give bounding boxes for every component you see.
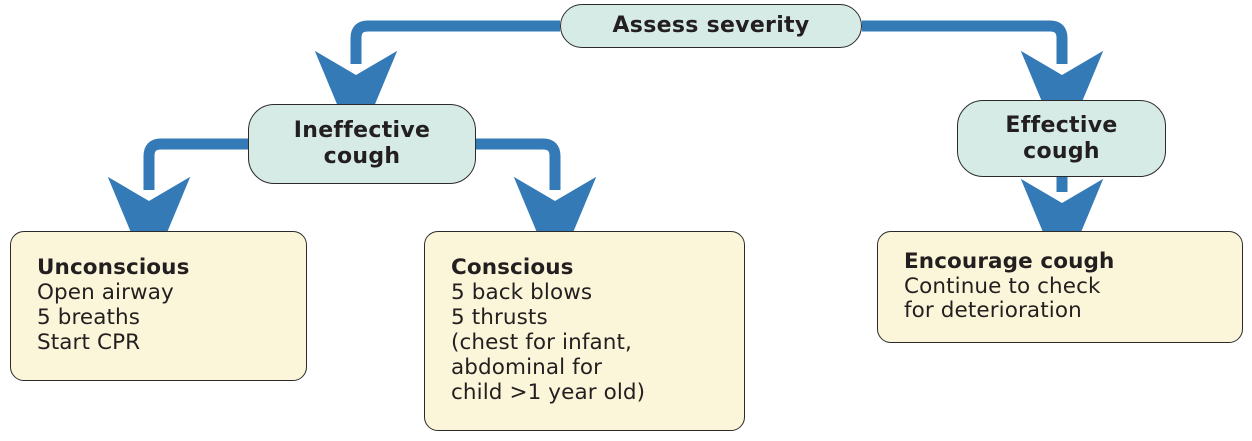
edge-assess-to-effective: [862, 26, 1062, 64]
edge-ineffective-to-conscious: [476, 144, 555, 190]
node-ineffective-cough-line-2: cough: [294, 144, 431, 170]
node-assess-severity[interactable]: Assess severity: [560, 4, 862, 48]
flowchart-canvas: Assess severity Ineffective cough Effect…: [0, 0, 1252, 441]
node-ineffective-cough-line-1: Ineffective: [294, 118, 431, 144]
node-unconscious-line-1: Unconscious: [37, 256, 189, 281]
node-effective-cough-line-2: cough: [1005, 139, 1117, 165]
node-unconscious-line-4: Start CPR: [37, 331, 189, 356]
node-assess-severity-text: Assess severity: [598, 13, 823, 39]
node-encourage-cough-text: Encourage cough Continue to check for de…: [878, 250, 1114, 325]
node-unconscious-line-3: 5 breaths: [37, 306, 189, 331]
node-conscious-line-4: (chest for infant,: [451, 331, 645, 356]
node-unconscious[interactable]: Unconscious Open airway 5 breaths Start …: [10, 231, 307, 381]
node-conscious-line-1: Conscious: [451, 256, 645, 281]
node-conscious[interactable]: Conscious 5 back blows 5 thrusts (chest …: [424, 231, 745, 431]
node-conscious-text: Conscious 5 back blows 5 thrusts (chest …: [425, 256, 645, 406]
node-effective-cough[interactable]: Effective cough: [957, 100, 1166, 177]
node-conscious-line-3: 5 thrusts: [451, 306, 645, 331]
node-unconscious-text: Unconscious Open airway 5 breaths Start …: [11, 256, 189, 356]
node-effective-cough-line-1: Effective: [1005, 113, 1117, 139]
node-ineffective-cough[interactable]: Ineffective cough: [248, 104, 476, 184]
node-effective-cough-text: Effective cough: [991, 113, 1131, 164]
node-encourage-cough[interactable]: Encourage cough Continue to check for de…: [877, 231, 1243, 343]
node-assess-severity-line-1: Assess severity: [612, 13, 809, 39]
node-encourage-cough-line-2: Continue to check: [904, 275, 1114, 300]
node-conscious-line-6: child >1 year old): [451, 381, 645, 406]
node-encourage-cough-line-1: Encourage cough: [904, 250, 1114, 275]
node-unconscious-line-2: Open airway: [37, 281, 189, 306]
node-conscious-line-5: abdominal for: [451, 356, 645, 381]
node-conscious-line-2: 5 back blows: [451, 281, 645, 306]
edge-ineffective-to-unconscious: [149, 144, 248, 190]
node-ineffective-cough-text: Ineffective cough: [280, 118, 445, 169]
node-encourage-cough-line-3: for deterioration: [904, 299, 1114, 324]
edge-assess-to-ineffective: [356, 26, 560, 64]
